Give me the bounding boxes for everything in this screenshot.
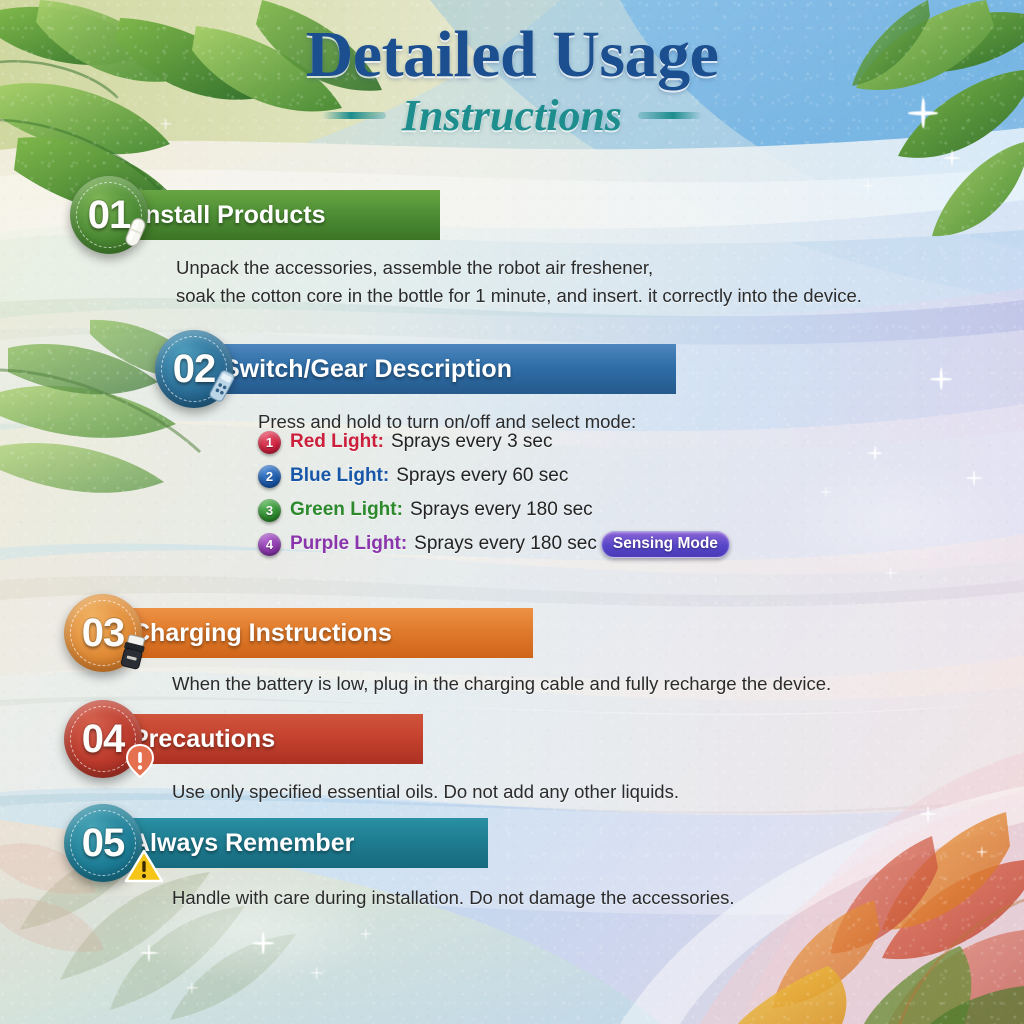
mode-value-purple: Sprays every 180 sec [414, 533, 597, 555]
subtitle-row: Instructions [0, 90, 1024, 141]
section-body-03: When the battery is low, plug in the cha… [172, 670, 962, 698]
charger-plug-icon [116, 632, 152, 674]
mode-number-badge-2: 2 [258, 465, 281, 488]
capsule-bottle-icon [120, 212, 150, 252]
mode-value-green: Sprays every 180 sec [410, 499, 593, 521]
section-05: 05 Always Remember Handle with care duri… [0, 818, 1024, 912]
sensing-mode-tag[interactable]: Sensing Mode [601, 531, 730, 558]
section-title-01: Install Products [138, 201, 326, 230]
page-title: Detailed Usage [0, 18, 1024, 92]
mode-list-item[interactable]: 2 Blue Light: Sprays every 60 sec [258, 459, 730, 493]
page-header: Detailed Usage Instructions [0, 18, 1024, 141]
mode-value-blue: Sprays every 60 sec [396, 465, 568, 487]
section-ribbon-03: Charging Instructions [98, 608, 533, 658]
mode-label-purple: Purple Light: [290, 533, 407, 555]
section-ribbon-01: Install Products [104, 190, 440, 240]
mode-label-red: Red Light: [290, 431, 384, 453]
mode-value-red: Sprays every 3 sec [391, 431, 553, 453]
mode-number-badge-1: 1 [258, 431, 281, 454]
page-subtitle: Instructions [402, 90, 622, 141]
warning-triangle-icon [124, 848, 164, 884]
section-body-05: Handle with care during installation. Do… [172, 884, 932, 912]
section-number-05: 05 [82, 821, 125, 866]
section-02: 02 Switch/Gear Description Press and hol… [0, 344, 1024, 436]
divider-dash-left [322, 112, 386, 119]
section-03: 03 Charging Instructions When the batter… [0, 608, 1024, 698]
section-04: 04 Precautions Use only specified essent… [0, 714, 1024, 806]
section-ribbon-02: Switch/Gear Description [189, 344, 676, 394]
divider-dash-right [638, 112, 702, 119]
section-number-04: 04 [82, 717, 125, 762]
mode-list: 1 Red Light: Sprays every 3 sec 2 Blue L… [258, 425, 730, 561]
section-01: 01 Install Products Unpack the accessori… [0, 190, 1024, 310]
section-body-04: Use only specified essential oils. Do no… [172, 778, 932, 806]
section-body-01: Unpack the accessories, assemble the rob… [176, 254, 966, 310]
section-title-03: Charging Instructions [132, 619, 392, 648]
mode-number-badge-3: 3 [258, 499, 281, 522]
section-title-05: Always Remember [132, 829, 354, 858]
mode-list-item[interactable]: 1 Red Light: Sprays every 3 sec [258, 425, 730, 459]
mode-list-item[interactable]: 3 Green Light: Sprays every 180 sec [258, 493, 730, 527]
exclamation-drop-icon [124, 742, 156, 780]
mode-number-badge-4: 4 [258, 533, 281, 556]
mode-label-green: Green Light: [290, 499, 403, 521]
mode-list-item[interactable]: 4 Purple Light: Sprays every 180 sec Sen… [258, 527, 730, 561]
section-title-02: Switch/Gear Description [223, 355, 512, 384]
mode-label-blue: Blue Light: [290, 465, 389, 487]
remote-device-icon [205, 366, 239, 406]
